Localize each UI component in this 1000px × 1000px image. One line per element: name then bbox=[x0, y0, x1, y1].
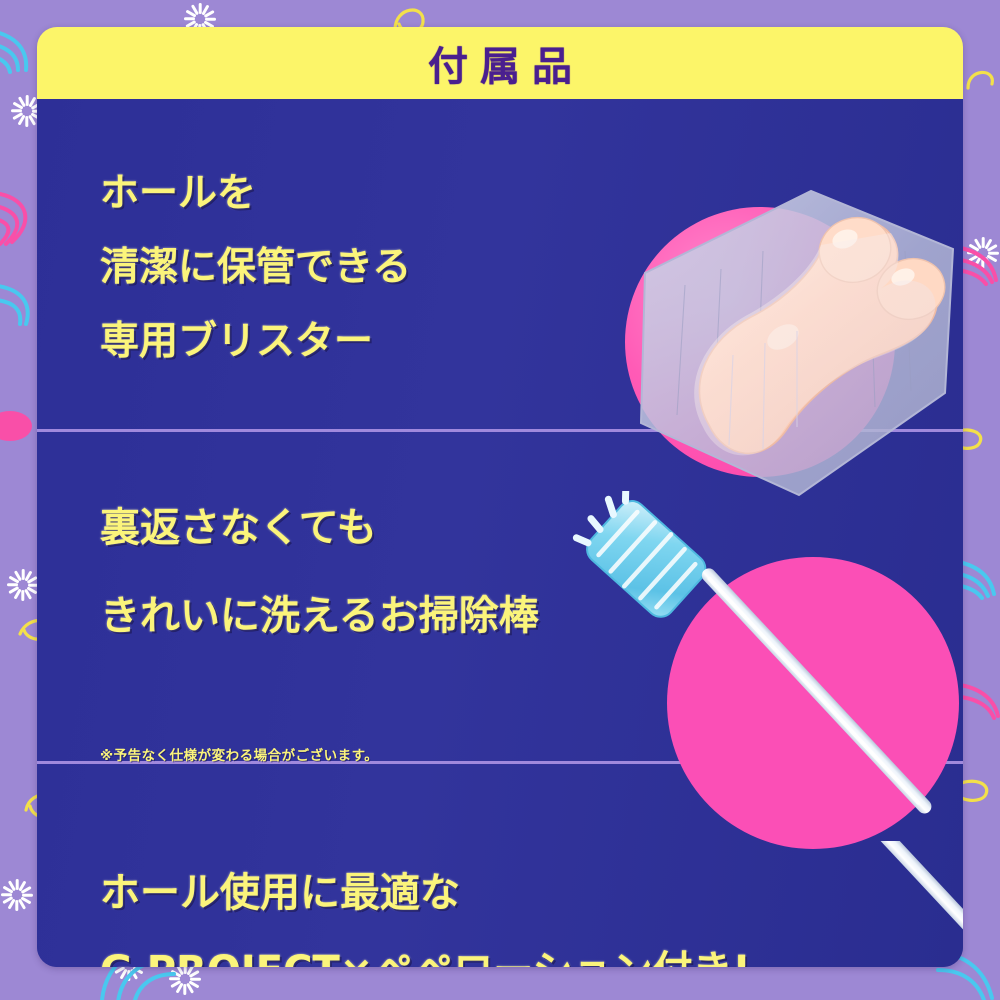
card-header: 付属品 bbox=[37, 27, 963, 99]
blister-pack-image bbox=[623, 177, 963, 517]
sunburst-icon bbox=[168, 962, 202, 996]
sunburst-icon bbox=[0, 878, 34, 912]
sunburst-icon bbox=[6, 568, 40, 602]
sunburst-icon bbox=[966, 236, 1000, 270]
squiggle-icon bbox=[962, 60, 1000, 100]
card-body: ホールを 清潔に保管できる 専用ブリスター 裏返さなくても きれいに洗えるお掃除… bbox=[37, 99, 963, 967]
arc-icon bbox=[186, 0, 226, 30]
product-card: 付属品 bbox=[37, 27, 963, 967]
spec-change-note: ※予告なく仕様が変わる場合がございます。 bbox=[100, 744, 378, 764]
cleaning-stick-tip bbox=[857, 841, 963, 967]
lotion-line-2: G PROJECT×ペペローション付き! bbox=[100, 932, 963, 967]
poster-canvas: 付属品 bbox=[0, 0, 1000, 1000]
page-title: 付属品 bbox=[416, 34, 584, 92]
